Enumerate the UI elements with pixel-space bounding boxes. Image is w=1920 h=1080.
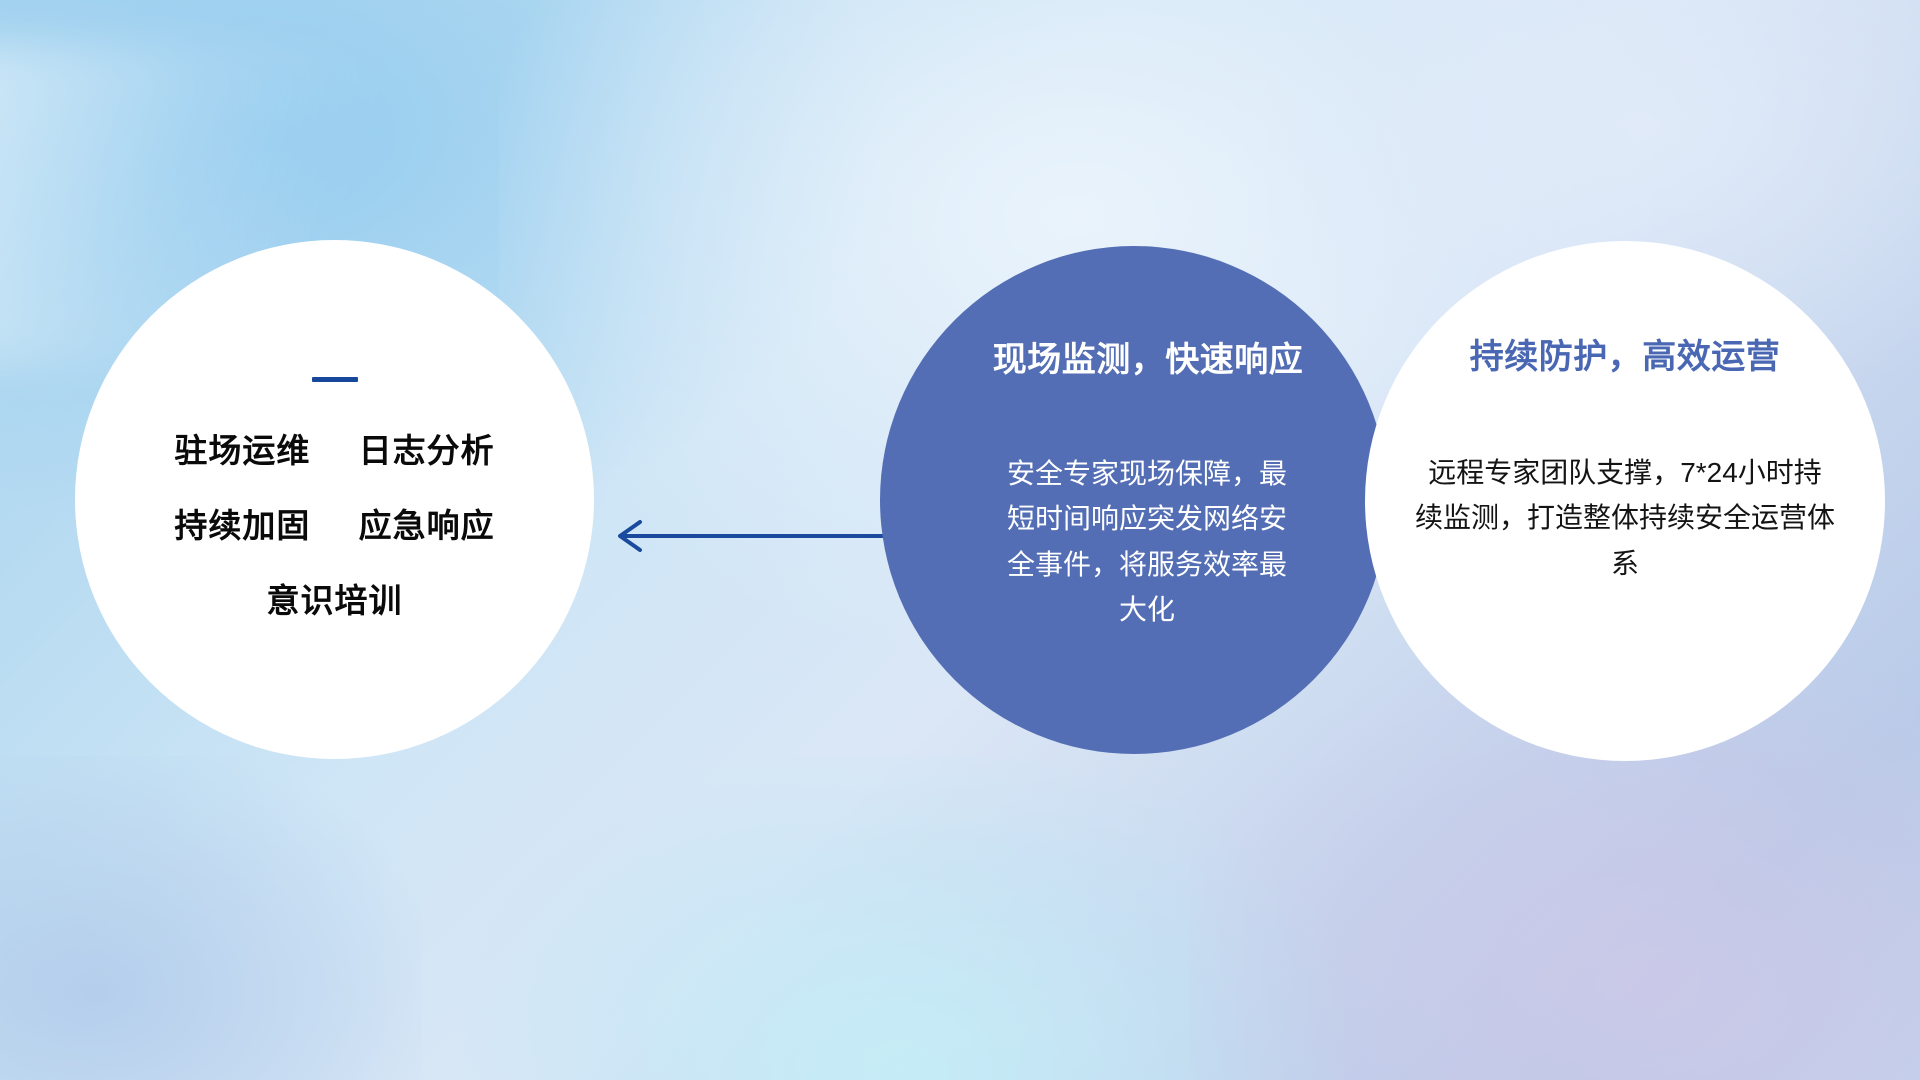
keyword-row-3: 意识培训: [75, 584, 594, 617]
background-glow-bottom-left: [0, 756, 422, 1080]
keyword-row-2: 持续加固 应急响应: [75, 509, 594, 542]
onsite-monitoring-content: 现场监测，快速响应 安全专家现场保障，最短时间响应突发网络安全事件，将服务效率最…: [880, 246, 1388, 632]
flow-arrow-icon: [600, 516, 890, 556]
onsite-monitoring-circle[interactable]: 现场监测，快速响应 安全专家现场保障，最短时间响应突发网络安全事件，将服务效率最…: [880, 246, 1388, 754]
onsite-monitoring-body: 安全专家现场保障，最短时间响应突发网络安全事件，将服务效率最大化: [979, 451, 1289, 632]
continuous-protection-title: 持续防护，高效运营: [1365, 329, 1885, 378]
continuous-protection-body: 远程专家团队支撑，7*24小时持续监测，打造整体持续安全运营体系: [1415, 450, 1835, 586]
keyword-yishi-peixun: 意识培训: [267, 582, 403, 619]
keyword-zhuchang-yunwei: 驻场运维: [174, 432, 310, 469]
capabilities-circle-left[interactable]: 驻场运维 日志分析 持续加固 应急响应 意识培训: [75, 240, 594, 759]
keyword-yingji-xiangying: 应急响应: [359, 507, 495, 544]
capabilities-circle-left-content: 驻场运维 日志分析 持续加固 应急响应 意识培训: [75, 240, 594, 617]
title-divider-line: [312, 377, 358, 382]
keyword-rizhi-fenxi: 日志分析: [359, 432, 495, 469]
continuous-protection-circle[interactable]: 持续防护，高效运营 远程专家团队支撑，7*24小时持续监测，打造整体持续安全运营…: [1365, 241, 1885, 761]
keyword-chixu-jiagu: 持续加固: [174, 507, 310, 544]
keyword-row-1: 驻场运维 日志分析: [75, 434, 594, 467]
onsite-monitoring-title: 现场监测，快速响应: [908, 332, 1388, 381]
slide-canvas: 驻场运维 日志分析 持续加固 应急响应 意识培训 现场监测，快速响应 安全专家现…: [0, 0, 1920, 1080]
continuous-protection-content: 持续防护，高效运营 远程专家团队支撑，7*24小时持续监测，打造整体持续安全运营…: [1365, 241, 1885, 586]
